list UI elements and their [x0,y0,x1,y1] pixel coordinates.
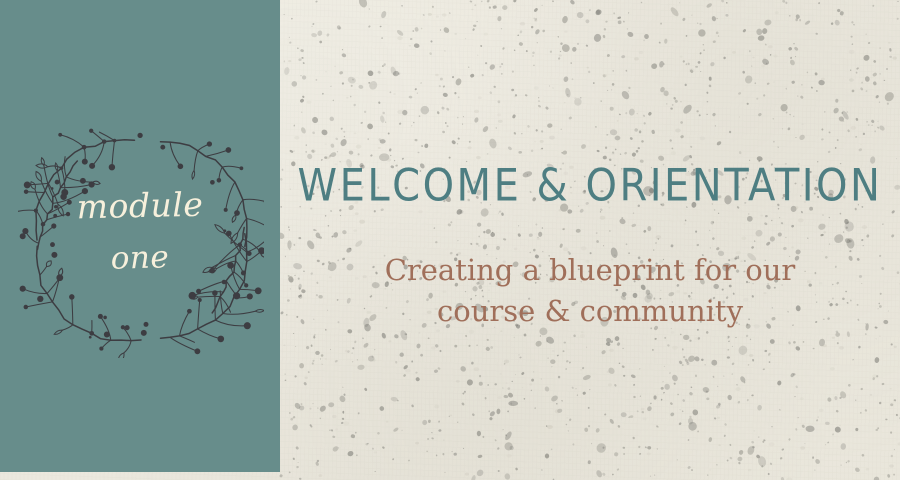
content-area: Welcome & Orientation Creating a bluepri… [280,0,900,480]
left-accent-panel: module one [0,0,280,472]
slide-headline: Welcome & Orientation [280,160,900,212]
slide-subhead-line2: course & community [280,291,900,332]
slide-subhead: Creating a blueprint for our course & co… [280,250,900,332]
wreath-illustration [18,122,264,358]
slide-canvas: module one Welcome & Orientation Creatin… [0,0,900,480]
slide-subhead-line1: Creating a blueprint for our [280,250,900,291]
